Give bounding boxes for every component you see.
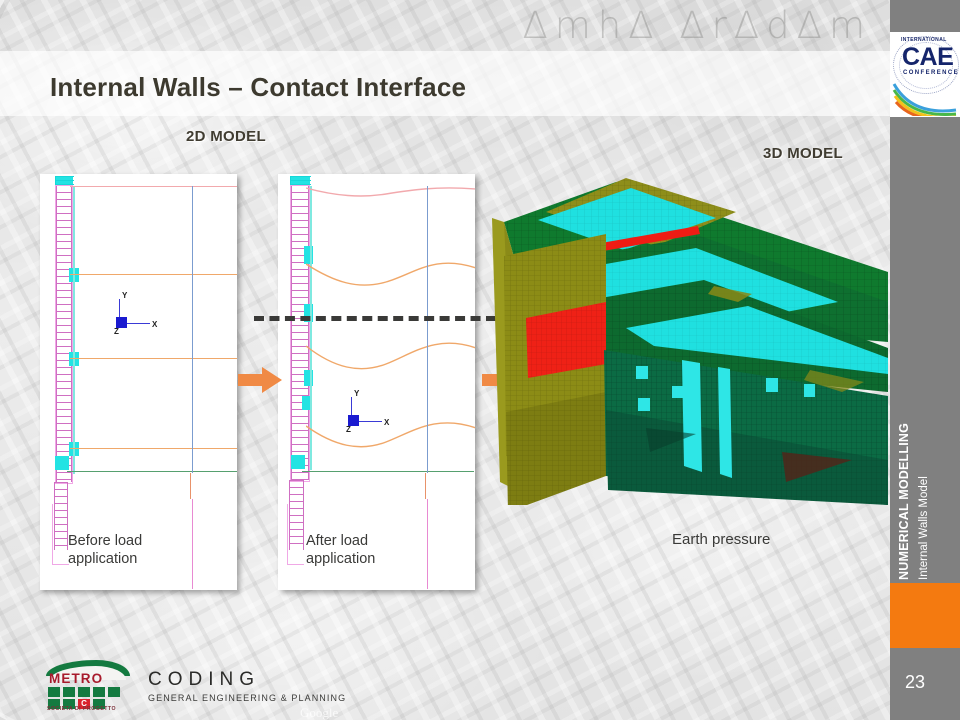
header-top-band: ΔmhΔ ΔrΔdΔm <box>0 0 890 51</box>
arrow-2d-to-2d-icon <box>238 367 282 393</box>
axis-triad: Y X Z <box>108 291 168 341</box>
cyan-shaft-2 <box>718 367 732 478</box>
axis-label-y: Y <box>122 291 127 300</box>
contact-interface-4 <box>55 456 69 470</box>
lower-bracket-outline <box>287 504 304 565</box>
column-line-blue <box>192 186 193 473</box>
interface-strip <box>73 186 75 474</box>
column-line-orange <box>190 473 191 499</box>
metro-logo: METRO C SOCIETA DI PROGETTO <box>44 660 132 712</box>
page-title: Internal Walls – Contact Interface <box>50 72 466 103</box>
label-2d-model: 2D MODEL <box>186 128 266 145</box>
metro-square <box>108 687 120 697</box>
logo-acronym-text: CAE <box>902 45 953 70</box>
axis-label-x: X <box>152 320 157 329</box>
coding-logo: CODING GENERAL ENGINEERING & PLANNING <box>148 669 348 709</box>
metro-wordmark: METRO <box>49 671 103 686</box>
panel-caption-after-line2: application <box>306 550 375 568</box>
axis-triad: Y X Z <box>340 389 400 439</box>
label-earth-pressure: Earth pressure <box>672 531 770 548</box>
comparison-dashed-line <box>254 316 496 321</box>
axis-label-y: Y <box>354 389 359 398</box>
header-watermark-logo: ΔmhΔ ΔrΔdΔm <box>522 4 872 47</box>
column-line-pink <box>427 499 428 589</box>
metro-squares-row-1 <box>48 687 120 697</box>
floor-line-1 <box>70 274 237 275</box>
column-line-pink <box>192 499 193 589</box>
panel-caption-before: Before load application <box>68 532 142 568</box>
cyan-cap-mesh <box>55 176 74 185</box>
floor-line-2 <box>70 358 237 359</box>
cyan-shaft-1 <box>682 360 702 472</box>
axis-label-x: X <box>384 418 389 427</box>
panel-caption-before-line1: Before load <box>68 532 142 550</box>
coding-tagline: GENERAL ENGINEERING & PLANNING <box>148 693 348 703</box>
sidebar-section-title: NUMERICAL MODELLING <box>897 423 911 580</box>
slide-root: ΔmhΔ ΔrΔdΔm Internal Walls – Contact Int… <box>0 0 960 720</box>
column-line-orange <box>425 473 426 499</box>
sidebar-section-subtitle: Internal Walls Model <box>918 476 930 580</box>
fe-model-3d <box>486 160 888 505</box>
panel-caption-after-line1: After load <box>306 532 375 550</box>
metro-square <box>93 687 105 697</box>
floor-line-base <box>302 471 474 472</box>
metro-subtitle: SOCIETA DI PROGETTO <box>47 706 116 712</box>
floor-line-base <box>67 471 237 472</box>
panel-2d-before-load: Y X Z Before load application <box>40 174 237 590</box>
sidebar-accent-block <box>890 583 960 648</box>
cyan-opening-1 <box>636 366 648 379</box>
coding-wordmark: CODING <box>148 669 348 691</box>
sidebar-section-labels: NUMERICAL MODELLING Internal Walls Model <box>890 330 960 580</box>
arrow-head <box>262 367 282 393</box>
floor-line-ground <box>70 186 237 187</box>
wall-outline-upper <box>55 185 73 484</box>
column-line-blue <box>427 186 428 473</box>
axis-label-z: Z <box>346 425 351 434</box>
floor-line-3 <box>70 448 237 449</box>
map-attribution: Google <box>300 705 338 720</box>
panel-caption-before-line2: application <box>68 550 142 568</box>
metro-square <box>63 687 75 697</box>
contact-interface-5 <box>291 455 305 469</box>
cae-conference-logo: INTERNATIONAL CAE CONFERENCE <box>890 32 960 117</box>
panel-caption-after: After load application <box>306 532 375 568</box>
arrow-shaft <box>238 374 264 386</box>
axis-label-z: Z <box>114 327 119 336</box>
metro-square <box>78 687 90 697</box>
cyan-opening-2 <box>638 398 650 411</box>
cyan-opening-4 <box>766 378 778 392</box>
page-number: 23 <box>905 672 925 693</box>
panel-2d-after-load: Y X Z After load application <box>278 174 475 590</box>
metro-square <box>48 687 60 697</box>
cyan-opening-3 <box>672 386 683 398</box>
logo-rainbow-arcs-icon <box>890 76 960 116</box>
cyan-opening-5 <box>804 384 815 397</box>
lower-bracket-outline <box>52 504 69 565</box>
